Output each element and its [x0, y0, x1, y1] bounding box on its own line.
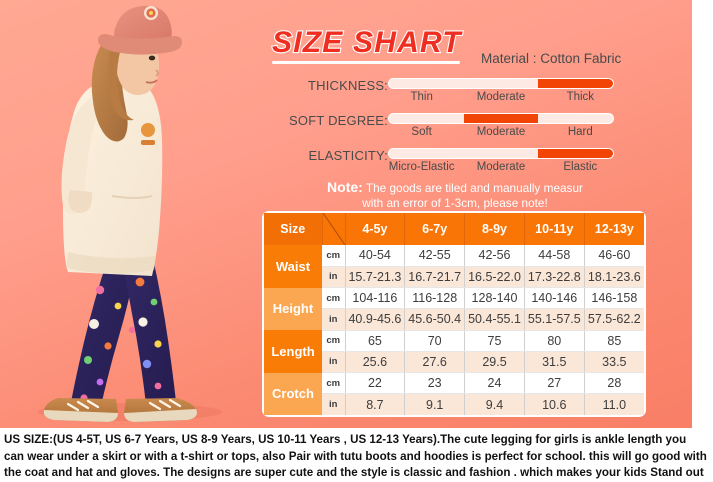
unit-cm: cm [322, 330, 345, 351]
table-row: Length cm 65 70 75 80 85 [264, 330, 644, 351]
cell-height-cm-4-5y: 104-116 [345, 288, 405, 309]
cell-crotch-in-10-11y: 10.6 [524, 394, 584, 415]
note-line-2: with an error of 1-3cm, please note! [362, 196, 548, 210]
table-header-row: Size 4-5y 6-7y 8-9y 10-11y 12-13y [264, 213, 644, 245]
cell-length-in-6-7y: 27.6 [405, 351, 465, 372]
cell-crotch-cm-8-9y: 24 [465, 373, 525, 394]
cell-waist-cm-8-9y: 42-56 [465, 245, 525, 266]
slider-soft-degree-track[interactable] [388, 113, 614, 124]
slider-segment-3 [538, 79, 613, 88]
chart-banner: SIZE SHART Material : Cotton Fabric THIC… [0, 0, 692, 428]
slider-segment-2 [464, 149, 539, 158]
unit-in: in [322, 309, 345, 330]
cell-crotch-cm-12-13y: 28 [584, 373, 644, 394]
cell-crotch-in-12-13y: 11.0 [584, 394, 644, 415]
table-corner-diagonal [322, 213, 345, 245]
cell-crotch-cm-6-7y: 23 [405, 373, 465, 394]
row-label-waist: Waist [264, 245, 322, 288]
slider-segment-3 [538, 114, 613, 123]
slider-soft-degree-ticks: Soft Moderate Hard [382, 126, 620, 138]
slider-elasticity[interactable]: ELASTICITY: Micro-Elastic Moderate Elast… [272, 146, 620, 181]
slider-segment-1 [389, 114, 464, 123]
slider-tick-elastic: Elastic [541, 161, 620, 173]
cell-height-in-12-13y: 57.5-62.2 [584, 309, 644, 330]
slider-thickness[interactable]: THICKNESS: Thin Moderate Thick [272, 76, 620, 111]
unit-in: in [322, 351, 345, 372]
cell-waist-in-6-7y: 16.7-21.7 [405, 266, 465, 287]
slider-tick-thick: Thick [541, 91, 620, 103]
row-label-length: Length [264, 330, 322, 373]
cell-height-cm-6-7y: 116-128 [405, 288, 465, 309]
cell-crotch-in-8-9y: 9.4 [465, 394, 525, 415]
size-table: Size 4-5y 6-7y 8-9y 10-11y 12-13y [262, 211, 646, 417]
unit-cm: cm [322, 245, 345, 266]
cell-height-in-6-7y: 45.6-50.4 [405, 309, 465, 330]
cell-crotch-cm-10-11y: 27 [524, 373, 584, 394]
size-table-grid: Size 4-5y 6-7y 8-9y 10-11y 12-13y [264, 213, 644, 415]
cell-waist-cm-12-13y: 46-60 [584, 245, 644, 266]
cell-waist-cm-10-11y: 44-58 [524, 245, 584, 266]
table-row: Height cm 104-116 116-128 128-140 140-14… [264, 288, 644, 309]
note-prefix: Note: [327, 179, 363, 195]
slider-segment-1 [389, 149, 464, 158]
cell-waist-cm-4-5y: 40-54 [345, 245, 405, 266]
cell-height-cm-12-13y: 146-158 [584, 288, 644, 309]
cell-length-in-12-13y: 33.5 [584, 351, 644, 372]
cell-height-cm-8-9y: 128-140 [465, 288, 525, 309]
slider-tick-moderate: Moderate [461, 161, 540, 173]
size-chart-page: SIZE SHART Material : Cotton Fabric THIC… [0, 0, 713, 482]
cell-length-in-8-9y: 29.5 [465, 351, 525, 372]
slider-tick-thin: Thin [382, 91, 461, 103]
cell-crotch-in-6-7y: 9.1 [405, 394, 465, 415]
cell-length-cm-6-7y: 70 [405, 330, 465, 351]
page-title: SIZE SHART [272, 26, 462, 60]
cell-waist-cm-6-7y: 42-55 [405, 245, 465, 266]
cell-height-in-8-9y: 50.4-55.1 [465, 309, 525, 330]
slider-tick-hard: Hard [541, 126, 620, 138]
note-line-1: The goods are tiled and manually measur [363, 181, 583, 195]
cell-height-in-10-11y: 55.1-57.5 [524, 309, 584, 330]
title-underline [272, 61, 460, 64]
slider-thickness-label: THICKNESS: [308, 78, 388, 93]
slider-segment-1 [389, 79, 464, 88]
table-row: Crotch cm 22 23 24 27 28 [264, 373, 644, 394]
cell-length-in-10-11y: 31.5 [524, 351, 584, 372]
slider-elasticity-ticks: Micro-Elastic Moderate Elastic [382, 161, 620, 173]
table-col-10-11y: 10-11y [524, 213, 584, 245]
slider-segment-3 [538, 149, 613, 158]
slider-tick-soft: Soft [382, 126, 461, 138]
slider-thickness-ticks: Thin Moderate Thick [382, 91, 620, 103]
slider-elasticity-label: ELASTICITY: [308, 148, 388, 163]
cell-length-cm-12-13y: 85 [584, 330, 644, 351]
row-label-height: Height [264, 288, 322, 331]
table-row: Waist cm 40-54 42-55 42-56 44-58 46-60 [264, 245, 644, 266]
slider-soft-degree[interactable]: SOFT DEGREE: Soft Moderate Hard [272, 111, 620, 146]
cell-length-cm-10-11y: 80 [524, 330, 584, 351]
unit-cm: cm [322, 373, 345, 394]
cell-height-cm-10-11y: 140-146 [524, 288, 584, 309]
slider-tick-moderate: Moderate [461, 126, 540, 138]
cell-height-in-4-5y: 40.9-45.6 [345, 309, 405, 330]
table-corner-size: Size [264, 213, 322, 245]
table-col-8-9y: 8-9y [465, 213, 525, 245]
unit-in: in [322, 266, 345, 287]
unit-cm: cm [322, 288, 345, 309]
model-photo [0, 0, 262, 428]
row-label-crotch: Crotch [264, 373, 322, 416]
title-block: SIZE SHART [272, 26, 462, 64]
cell-waist-in-10-11y: 17.3-22.8 [524, 266, 584, 287]
table-col-6-7y: 6-7y [405, 213, 465, 245]
product-description: US SIZE:(US 4-5T, US 6-7 Years, US 8-9 Y… [4, 432, 709, 482]
cell-length-cm-8-9y: 75 [465, 330, 525, 351]
slider-tick-moderate: Moderate [461, 91, 540, 103]
cell-waist-in-4-5y: 15.7-21.3 [345, 266, 405, 287]
attribute-sliders: THICKNESS: Thin Moderate Thick SOFT DEGR… [272, 76, 620, 181]
cell-waist-in-12-13y: 18.1-23.6 [584, 266, 644, 287]
cell-crotch-in-4-5y: 8.7 [345, 394, 405, 415]
cell-length-in-4-5y: 25.6 [345, 351, 405, 372]
unit-in: in [322, 394, 345, 415]
table-col-12-13y: 12-13y [584, 213, 644, 245]
material-text: Material : Cotton Fabric [481, 51, 621, 66]
slider-thickness-track[interactable] [388, 78, 614, 89]
slider-tick-micro-elastic: Micro-Elastic [382, 161, 461, 173]
slider-segment-2 [464, 114, 539, 123]
slider-soft-degree-label: SOFT DEGREE: [289, 113, 388, 128]
table-col-4-5y: 4-5y [345, 213, 405, 245]
cell-length-cm-4-5y: 65 [345, 330, 405, 351]
note-text: Note: The goods are tiled and manually m… [272, 180, 638, 211]
slider-elasticity-track[interactable] [388, 148, 614, 159]
cell-crotch-cm-4-5y: 22 [345, 373, 405, 394]
cell-waist-in-8-9y: 16.5-22.0 [465, 266, 525, 287]
slider-segment-2 [464, 79, 539, 88]
